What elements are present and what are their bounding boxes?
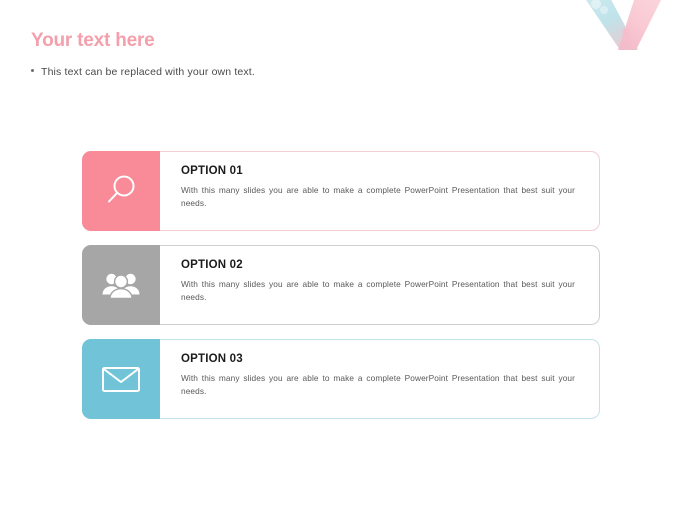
option-02-description: With this many slides you are able to ma… <box>181 278 575 303</box>
subtitle-text: This text can be replaced with your own … <box>41 66 255 78</box>
option-card-03[interactable]: OPTION 03 With this many slides you are … <box>82 339 600 419</box>
option-01-icon-block <box>82 151 160 231</box>
option-03-icon-block <box>82 339 160 419</box>
option-02-body: OPTION 02 With this many slides you are … <box>160 245 600 325</box>
option-03-body: OPTION 03 With this many slides you are … <box>160 339 600 419</box>
bullet-dot-icon <box>31 69 34 72</box>
page-title: Your text here <box>31 30 155 52</box>
envelope-icon <box>100 363 142 395</box>
option-01-body: OPTION 01 With this many slides you are … <box>160 151 600 231</box>
option-03-title: OPTION 03 <box>181 353 582 365</box>
option-02-title: OPTION 02 <box>181 259 582 271</box>
users-icon <box>101 268 141 302</box>
option-01-description: With this many slides you are able to ma… <box>181 184 575 209</box>
option-card-list: OPTION 01 With this many slides you are … <box>82 151 600 433</box>
option-01-title: OPTION 01 <box>181 165 582 177</box>
option-card-01[interactable]: OPTION 01 With this many slides you are … <box>82 151 600 231</box>
option-03-description: With this many slides you are able to ma… <box>181 372 575 397</box>
search-icon <box>102 172 140 210</box>
option-02-icon-block <box>82 245 160 325</box>
v-shape-watercolor-graphic <box>580 0 666 50</box>
option-card-02[interactable]: OPTION 02 With this many slides you are … <box>82 245 600 325</box>
subtitle-bullet-row: This text can be replaced with your own … <box>31 66 255 78</box>
